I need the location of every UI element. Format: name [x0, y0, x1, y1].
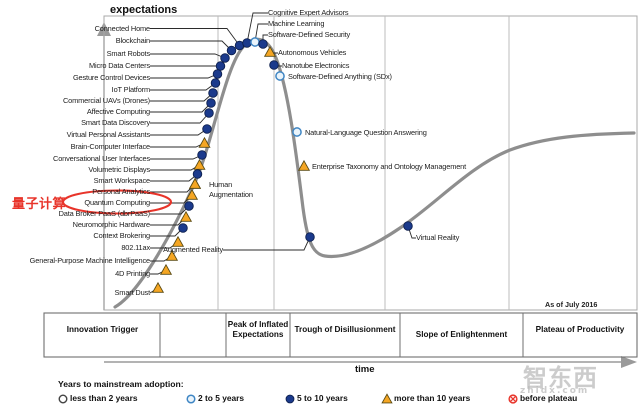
chinese-annotation-quantum-computing: 量子计算	[12, 193, 66, 212]
phase-band	[44, 313, 637, 357]
point-label: Personal Analytics	[92, 188, 150, 196]
point-label: Volumetric Displays	[88, 166, 150, 174]
point-label: Context Brokering	[93, 232, 150, 240]
leader-line	[150, 228, 183, 236]
legend-item: 2 to 5 years	[198, 393, 244, 403]
point-label: Smart Data Discovery	[81, 119, 150, 127]
legend-item: more than 10 years	[394, 393, 470, 403]
data-point-marker[interactable]	[198, 151, 207, 160]
phase-plateau-of-productivity: Plateau of Productivity	[524, 325, 636, 335]
point-label: Enterprise Taxonomy and Ontology Managem…	[312, 163, 466, 171]
point-label: Brain-Computer Interface	[71, 143, 150, 151]
legend-item: before plateau	[520, 393, 577, 403]
data-point-marker[interactable]	[270, 61, 279, 70]
point-label: Data Broker PaaS (dbrPaaS)	[59, 210, 150, 218]
point-label: Machine Learning	[268, 20, 324, 28]
legend-item: 5 to 10 years	[297, 393, 348, 403]
point-label: Software-Defined Anything (SDx)	[288, 73, 392, 81]
point-label: Nanotube Electronics	[282, 62, 349, 70]
leader-line	[223, 237, 310, 250]
data-point-marker[interactable]	[190, 179, 201, 188]
point-label: Smart Dust	[115, 289, 150, 297]
legend-title: Years to mainstream adoption:	[58, 379, 184, 389]
point-label: Autonomous Vehicles	[278, 49, 346, 57]
hype-cycle-chart: expectations time As of July 2016 Innova…	[0, 0, 640, 412]
data-point-marker[interactable]	[251, 38, 259, 46]
data-point-marker[interactable]	[293, 128, 301, 136]
data-point-marker[interactable]	[193, 170, 202, 179]
point-label: Neuromorphic Hardware	[73, 221, 150, 229]
data-point-marker[interactable]	[221, 54, 230, 63]
leader-line	[150, 184, 195, 192]
legend-marker	[382, 394, 392, 403]
legend-item: less than 2 years	[70, 393, 138, 403]
data-point-marker[interactable]	[207, 99, 216, 108]
data-point-marker[interactable]	[209, 89, 218, 98]
data-point-marker[interactable]	[179, 224, 188, 233]
point-label: IoT Platform	[112, 86, 150, 94]
point-label: Cognitive Expert Advisors	[268, 9, 348, 17]
point-label: Natural-Language Question Answering	[305, 129, 427, 137]
point-label: Human Augmentation	[209, 180, 265, 199]
point-label: Smart Workspace	[94, 177, 150, 185]
point-label: Virtual Personal Assistants	[67, 131, 150, 139]
as-of-date: As of July 2016	[545, 300, 597, 309]
point-label: Smart Robots	[107, 50, 150, 58]
leader-line	[150, 113, 209, 123]
leader-line	[150, 74, 218, 78]
legend-marker	[509, 395, 517, 403]
point-label: Software-Defined Security	[268, 31, 350, 39]
leader-line	[150, 29, 240, 46]
point-label: Gesture Control Devices	[73, 74, 150, 82]
data-point-marker[interactable]	[243, 39, 252, 48]
phase-trough-of-disillusionment: Trough of Disillusionment	[291, 325, 399, 335]
point-label: Blockchain	[116, 37, 150, 45]
leader-line	[150, 143, 205, 147]
data-point-marker[interactable]	[185, 202, 194, 211]
data-point-marker[interactable]	[213, 70, 222, 79]
data-point-marker[interactable]	[276, 72, 284, 80]
leader-line	[150, 41, 232, 51]
point-label: Augmented Reality	[163, 246, 223, 254]
legend-marker	[59, 395, 67, 403]
point-label: 802.11ax	[121, 244, 150, 252]
leader-line	[150, 93, 213, 101]
y-axis-title: expectations	[110, 4, 177, 16]
data-point-marker[interactable]	[306, 233, 315, 242]
point-label: 4D Printing	[115, 270, 150, 278]
data-point-marker[interactable]	[205, 109, 214, 118]
data-point-marker[interactable]	[404, 222, 413, 231]
data-point-marker[interactable]	[161, 265, 172, 274]
data-point-marker[interactable]	[153, 283, 164, 292]
point-label: Virtual Reality	[416, 234, 459, 242]
data-point-marker[interactable]	[299, 161, 310, 170]
leader-line	[150, 155, 202, 159]
leader-line	[150, 174, 198, 181]
point-label: Affective Computing	[87, 108, 150, 116]
leader-line	[150, 129, 207, 135]
x-axis-title: time	[355, 364, 375, 375]
point-label: Connected Home	[95, 25, 150, 33]
data-point-marker[interactable]	[227, 46, 236, 55]
leader-line	[150, 103, 211, 112]
phase-innovation-trigger: Innovation Trigger	[46, 325, 159, 335]
point-label: Commercial UAVs (Drones)	[63, 97, 150, 105]
data-point-marker[interactable]	[216, 62, 225, 71]
legend-marker	[286, 395, 294, 403]
legend-marker	[187, 395, 195, 403]
point-label: Conversational User Interfaces	[53, 155, 150, 163]
leader-line	[150, 54, 225, 58]
phase-slope-of-enlightenment: Slope of Enlightenment	[401, 330, 522, 340]
data-point-marker[interactable]	[203, 125, 212, 134]
point-label: Micro Data Centers	[89, 62, 150, 70]
leader-line	[150, 83, 216, 90]
data-point-marker[interactable]	[211, 79, 220, 88]
point-label: General-Purpose Machine Intelligence	[30, 257, 150, 265]
point-label: Quantum Computing	[84, 199, 150, 207]
phase-peak-of-inflated-expectations: Peak of Inflated Expectations	[227, 320, 289, 339]
leader-line	[150, 165, 200, 170]
data-point-marker[interactable]	[259, 40, 268, 49]
